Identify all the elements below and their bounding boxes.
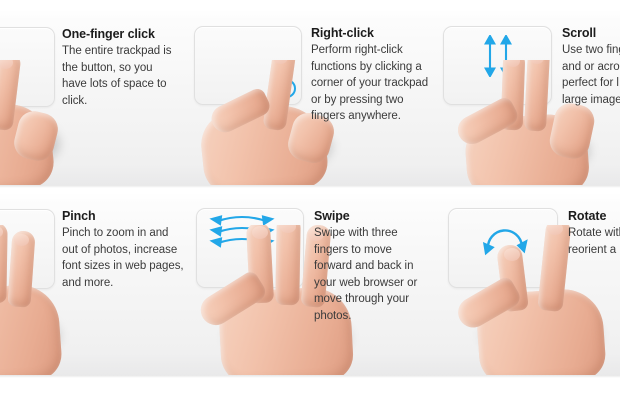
card-heading: Rotate (568, 209, 620, 224)
card-body: Pinch to zoom in and out of photos, incr… (62, 225, 186, 291)
card-scroll: Scroll Use two fing scroll up and or acr… (562, 26, 620, 108)
card-body: The entire trackpad is the button, so yo… (62, 43, 180, 109)
card-pinch: Pinch Pinch to zoom in and out of photos… (62, 209, 186, 291)
card-body: Use two fing scroll up and or across a p… (562, 42, 620, 108)
card-heading: Pinch (62, 209, 186, 224)
card-rotate: Rotate Rotate with fingers to reorient a… (568, 209, 620, 258)
card-body: Swipe with three fingers to move forward… (314, 225, 432, 325)
card-swipe: Swipe Swipe with three fingers to move f… (314, 209, 432, 325)
card-heading: Swipe (314, 209, 432, 224)
card-body: Perform right-click functions by clickin… (311, 42, 433, 125)
card-heading: One-finger click (62, 27, 180, 42)
card-right-click: Right-click Perform right-click function… (311, 26, 433, 125)
row-2-bottom-shadow (0, 375, 620, 378)
row-1-bottom-shadow (0, 185, 620, 188)
card-body: Rotate with fingers to reorient a PDF. (568, 225, 620, 258)
gesture-guide-page: One-finger click The entire trackpad is … (0, 0, 620, 400)
card-one-finger-click: One-finger click The entire trackpad is … (62, 27, 180, 109)
card-heading: Right-click (311, 26, 433, 41)
card-heading: Scroll (562, 26, 620, 41)
